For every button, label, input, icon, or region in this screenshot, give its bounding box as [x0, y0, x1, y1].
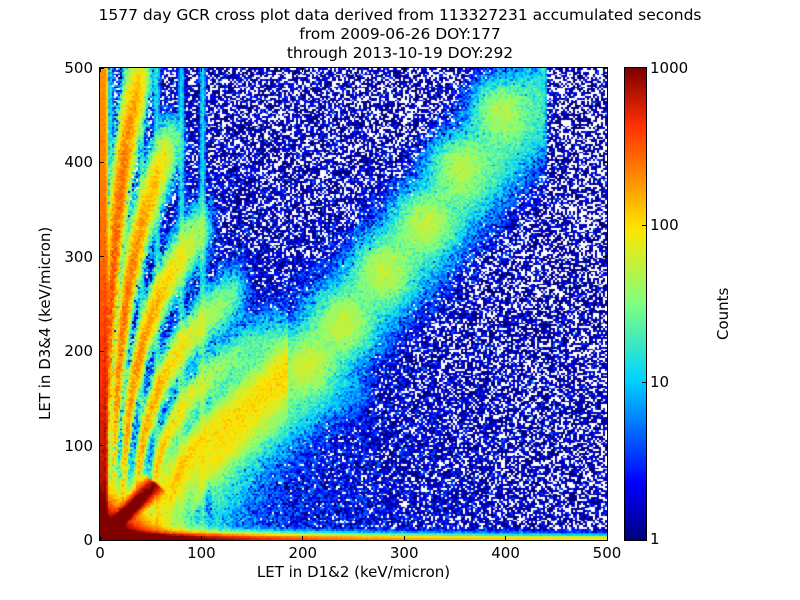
title-line-2: from 2009-06-26 DOY:177: [0, 25, 800, 44]
y-tick-0: [603, 540, 607, 541]
figure-title: 1577 day GCR cross plot data derived fro…: [0, 6, 800, 63]
colorbar-tick-label-10: 10: [650, 373, 669, 391]
density-heatmap: [100, 68, 607, 540]
y-tick-400: [603, 162, 607, 163]
y-tick-100: [603, 445, 607, 446]
y-tick-200: [603, 351, 607, 352]
figure-canvas: 1577 day GCR cross plot data derived fro…: [0, 0, 800, 600]
colorbar-tick-label-1: 1: [650, 530, 660, 548]
y-tick-label-500: 500: [33, 59, 93, 77]
y-tick-500: [100, 68, 104, 69]
x-tick-label-500: 500: [577, 544, 637, 562]
y-tick-label-0: 0: [33, 531, 93, 549]
x-tick-400: [505, 68, 506, 72]
x-tick-0: [100, 68, 101, 72]
x-tick-200: [302, 68, 303, 72]
y-axis-label: LET in D3&4 (keV/micron): [36, 227, 54, 420]
colorbar-tick-label-100: 100: [650, 216, 679, 234]
colorbar: [624, 67, 647, 541]
y-tick-label-400: 400: [33, 153, 93, 171]
x-tick-100: [201, 68, 202, 72]
colorbar-tick-100: [642, 225, 646, 226]
colorbar-tick-label-1000: 1000: [650, 59, 688, 77]
x-tick-100: [201, 536, 202, 540]
y-tick-500: [603, 68, 607, 69]
x-tick-400: [505, 536, 506, 540]
x-tick-500: [607, 68, 608, 72]
x-tick-label-200: 200: [273, 544, 333, 562]
y-tick-100: [100, 445, 104, 446]
x-tick-300: [404, 536, 405, 540]
plot-area: [99, 67, 608, 541]
y-tick-400: [100, 162, 104, 163]
x-tick-200: [302, 536, 303, 540]
x-tick-label-400: 400: [476, 544, 536, 562]
y-tick-0: [100, 540, 104, 541]
x-tick-300: [404, 68, 405, 72]
x-tick-label-300: 300: [374, 544, 434, 562]
y-tick-300: [603, 256, 607, 257]
y-tick-300: [100, 256, 104, 257]
y-tick-label-100: 100: [33, 437, 93, 455]
x-tick-label-100: 100: [171, 544, 231, 562]
title-line-1: 1577 day GCR cross plot data derived fro…: [0, 6, 800, 25]
colorbar-label: Counts: [714, 288, 732, 340]
y-tick-200: [100, 351, 104, 352]
colorbar-gradient: [625, 68, 646, 540]
colorbar-tick-10: [642, 382, 646, 383]
x-axis-label: LET in D1&2 (keV/micron): [99, 563, 608, 581]
